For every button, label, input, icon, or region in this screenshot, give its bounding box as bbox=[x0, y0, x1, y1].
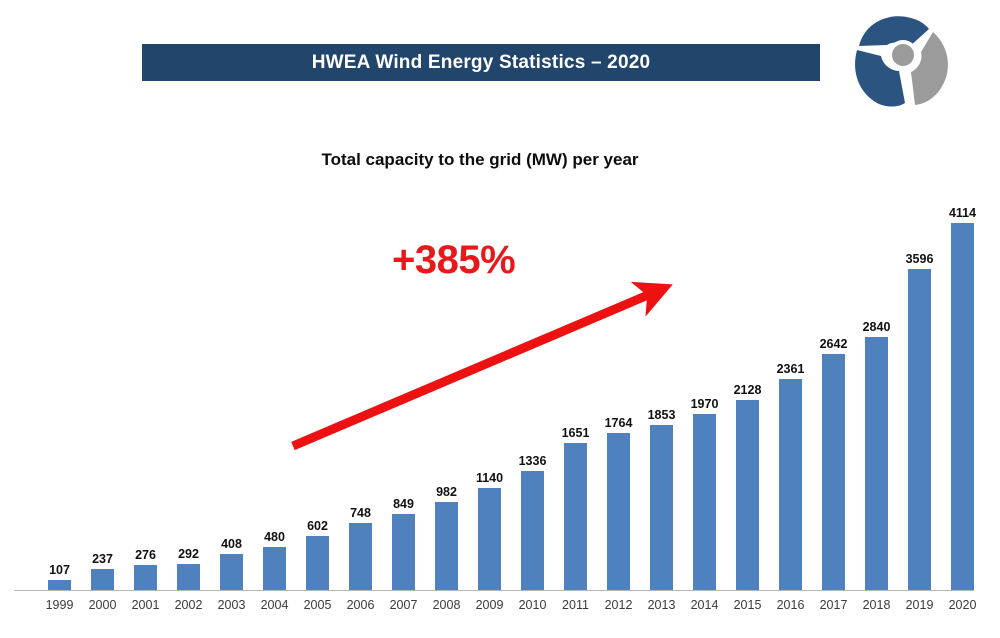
x-axis-labels: 1999200020012002200320042005200620072008… bbox=[14, 598, 986, 618]
bar[interactable] bbox=[908, 269, 931, 590]
bar-group: 408 bbox=[210, 189, 253, 590]
bar[interactable] bbox=[564, 443, 587, 590]
bar[interactable] bbox=[693, 414, 716, 590]
hwea-wind-turbine-logo bbox=[845, 8, 963, 108]
bar-group: 2642 bbox=[812, 189, 855, 590]
bar-value-label: 1970 bbox=[683, 397, 726, 411]
bar-value-label: 480 bbox=[253, 530, 296, 544]
bar[interactable] bbox=[177, 564, 200, 590]
bar[interactable] bbox=[822, 354, 845, 590]
bar-value-label: 292 bbox=[167, 547, 210, 561]
bar[interactable] bbox=[478, 488, 501, 590]
x-axis-tick-label: 2019 bbox=[898, 598, 941, 612]
bar-value-label: 408 bbox=[210, 537, 253, 551]
bar-group: 2361 bbox=[769, 189, 812, 590]
bar-value-label: 1651 bbox=[554, 426, 597, 440]
growth-percentage-label: +385% bbox=[392, 238, 515, 283]
bar[interactable] bbox=[865, 337, 888, 590]
bar[interactable] bbox=[263, 547, 286, 590]
bar-group: 237 bbox=[81, 189, 124, 590]
bar-value-label: 1336 bbox=[511, 454, 554, 468]
bar[interactable] bbox=[521, 471, 544, 590]
bar[interactable] bbox=[779, 379, 802, 590]
bar-value-label: 2361 bbox=[769, 362, 812, 376]
bar-group: 1651 bbox=[554, 189, 597, 590]
x-axis-tick-label: 2004 bbox=[253, 598, 296, 612]
bar-group: 2128 bbox=[726, 189, 769, 590]
bar[interactable] bbox=[951, 223, 974, 590]
x-axis-tick-label: 2017 bbox=[812, 598, 855, 612]
page-title: HWEA Wind Energy Statistics – 2020 bbox=[312, 52, 651, 74]
bar-value-label: 2128 bbox=[726, 383, 769, 397]
bar-value-label: 107 bbox=[38, 563, 81, 577]
bar-group: 3596 bbox=[898, 189, 941, 590]
bar[interactable] bbox=[48, 580, 71, 590]
x-axis-tick-label: 2012 bbox=[597, 598, 640, 612]
bar-value-label: 982 bbox=[425, 485, 468, 499]
bar-group: 276 bbox=[124, 189, 167, 590]
bar-value-label: 3596 bbox=[898, 252, 941, 266]
bar[interactable] bbox=[736, 400, 759, 590]
bar-group: 107 bbox=[38, 189, 81, 590]
bar[interactable] bbox=[91, 569, 114, 590]
x-axis-tick-label: 2013 bbox=[640, 598, 683, 612]
x-axis-tick-label: 2002 bbox=[167, 598, 210, 612]
bar[interactable] bbox=[435, 502, 458, 590]
bar[interactable] bbox=[220, 554, 243, 590]
bar-group: 602 bbox=[296, 189, 339, 590]
bar[interactable] bbox=[306, 536, 329, 590]
x-axis-tick-label: 2008 bbox=[425, 598, 468, 612]
bar[interactable] bbox=[349, 523, 372, 590]
x-axis-tick-label: 2000 bbox=[81, 598, 124, 612]
bar-group: 1764 bbox=[597, 189, 640, 590]
x-axis-baseline bbox=[14, 590, 974, 591]
x-axis-tick-label: 2006 bbox=[339, 598, 382, 612]
bar-value-label: 1140 bbox=[468, 471, 511, 485]
bar-group: 1970 bbox=[683, 189, 726, 590]
x-axis-tick-label: 2011 bbox=[554, 598, 597, 612]
x-axis-tick-label: 2007 bbox=[382, 598, 425, 612]
bar-value-label: 2642 bbox=[812, 337, 855, 351]
x-axis-tick-label: 2015 bbox=[726, 598, 769, 612]
header-title-band: HWEA Wind Energy Statistics – 2020 bbox=[142, 44, 820, 81]
x-axis-tick-label: 2010 bbox=[511, 598, 554, 612]
x-axis-tick-label: 2001 bbox=[124, 598, 167, 612]
bar-group: 1853 bbox=[640, 189, 683, 590]
x-axis-tick-label: 2020 bbox=[941, 598, 984, 612]
x-axis-tick-label: 2005 bbox=[296, 598, 339, 612]
bar-value-label: 237 bbox=[81, 552, 124, 566]
bar-group: 480 bbox=[253, 189, 296, 590]
bar-value-label: 1764 bbox=[597, 416, 640, 430]
bar-value-label: 748 bbox=[339, 506, 382, 520]
chart-subtitle: Total capacity to the grid (MW) per year bbox=[0, 150, 960, 170]
bar-group: 748 bbox=[339, 189, 382, 590]
bar[interactable] bbox=[650, 425, 673, 590]
bar[interactable] bbox=[607, 433, 630, 590]
bar-group: 292 bbox=[167, 189, 210, 590]
bar-value-label: 2840 bbox=[855, 320, 898, 334]
bar-group: 4114 bbox=[941, 189, 984, 590]
bar-group: 2840 bbox=[855, 189, 898, 590]
bar-value-label: 602 bbox=[296, 519, 339, 533]
bar[interactable] bbox=[392, 514, 415, 590]
x-axis-tick-label: 2014 bbox=[683, 598, 726, 612]
x-axis-tick-label: 2003 bbox=[210, 598, 253, 612]
bar[interactable] bbox=[134, 565, 157, 590]
bar-value-label: 849 bbox=[382, 497, 425, 511]
bar-value-label: 1853 bbox=[640, 408, 683, 422]
bar-group: 1336 bbox=[511, 189, 554, 590]
x-axis-tick-label: 2018 bbox=[855, 598, 898, 612]
x-axis-tick-label: 2009 bbox=[468, 598, 511, 612]
bar-value-label: 4114 bbox=[941, 206, 984, 220]
x-axis-tick-label: 2016 bbox=[769, 598, 812, 612]
bar-value-label: 276 bbox=[124, 548, 167, 562]
x-axis-tick-label: 1999 bbox=[38, 598, 81, 612]
